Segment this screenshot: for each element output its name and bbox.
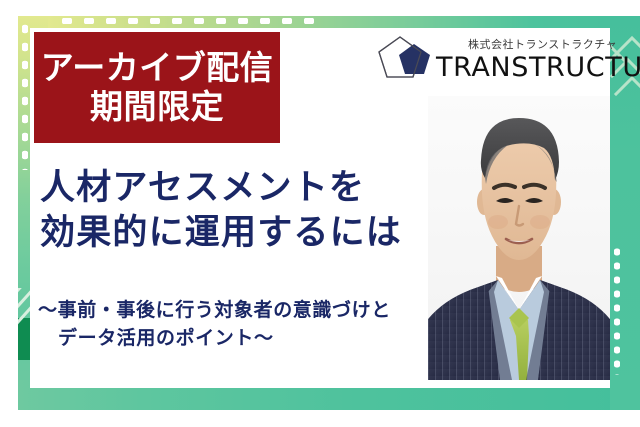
headline-line-1: 人材アセスメントを	[40, 166, 402, 211]
subtitle: ～事前・事後に行う対象者の意識づけと データ活用のポイント～	[38, 297, 391, 352]
archive-badge: アーカイブ配信 期間限定	[34, 32, 280, 143]
company-logo: 株式会社トランストラクチャ TRANSTRUCTURE	[378, 30, 610, 92]
seminar-banner: アーカイブ配信 期間限定 株式会社トランストラクチャ TRANSTRUCTURE…	[0, 0, 640, 427]
badge-line-2: 期間限定	[90, 90, 224, 125]
logo-wordmark: TRANSTRUCTURE	[436, 52, 640, 83]
headline: 人材アセスメントを 効果的に運用するには	[40, 166, 402, 256]
dot-pattern-right	[614, 245, 620, 375]
dot-pattern-left	[22, 20, 28, 170]
logo-kana-text: 株式会社トランストラクチャ	[468, 36, 617, 52]
speaker-portrait	[428, 96, 610, 380]
subtitle-line-1: ～事前・事後に行う対象者の意識づけと	[38, 297, 391, 325]
badge-line-1: アーカイブ配信	[41, 51, 274, 86]
headline-line-2: 効果的に運用するには	[40, 211, 402, 256]
pentagon-logo-mark-icon	[378, 34, 432, 86]
dot-pattern-top	[56, 18, 316, 24]
subtitle-line-2: データ活用のポイント～	[38, 325, 391, 353]
